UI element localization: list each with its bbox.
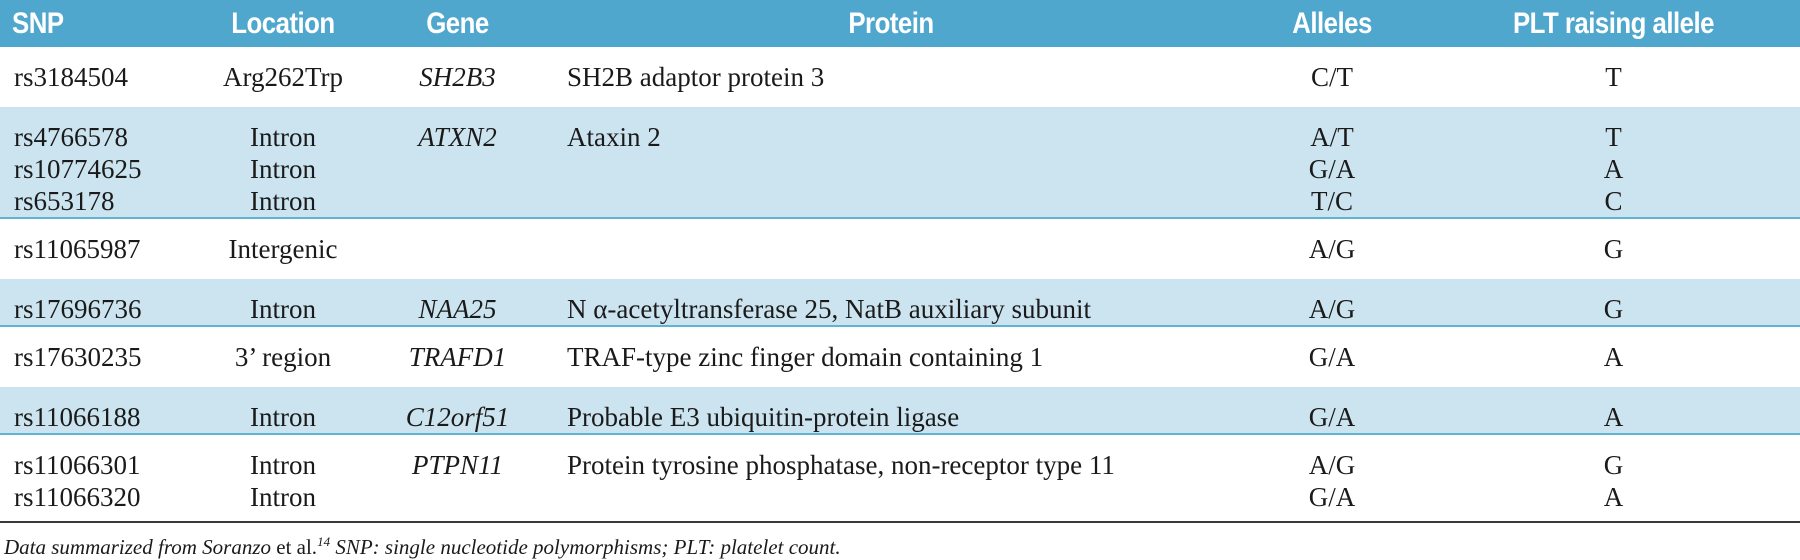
table-row: rs11066301 Intron PTPN11 Protein tyrosin… (0, 449, 1800, 481)
footnote-etal: et al. (276, 535, 317, 559)
table-body: rs3184504 Arg262Trp SH2B3 SH2B adaptor p… (0, 47, 1800, 513)
spacer-row (0, 218, 1800, 233)
table-row: rs4766578 Intron ATXN2 Ataxin 2 A/T T (0, 121, 1800, 153)
cell-plt: G (1427, 449, 1800, 481)
cell-location: Intron (196, 481, 370, 513)
cell-gene (370, 185, 545, 218)
spacer-row (0, 279, 1800, 293)
cell-snp: rs10774625 (0, 153, 196, 185)
cell-plt: T (1427, 121, 1800, 153)
cell-location: Intron (196, 121, 370, 153)
column-header-gene: Gene (382, 0, 533, 47)
cell-alleles: G/A (1237, 401, 1427, 434)
table-footnote: Data summarized from Soranzo et al.14 SN… (0, 523, 1800, 560)
table-row: rs11066320 Intron G/A A (0, 481, 1800, 513)
cell-alleles: G/A (1237, 153, 1427, 185)
table-row: rs3184504 Arg262Trp SH2B3 SH2B adaptor p… (0, 61, 1800, 93)
cell-gene: TRAFD1 (370, 341, 545, 373)
footnote-reference-number: 14 (317, 534, 330, 549)
spacer-row (0, 373, 1800, 387)
cell-snp: rs11066301 (0, 449, 196, 481)
header-row: SNP Location Gene Protein Alleles PLT ra… (0, 0, 1800, 47)
spacer-row (0, 387, 1800, 401)
cell-plt: G (1427, 293, 1800, 326)
cell-location: Intron (196, 153, 370, 185)
cell-plt: A (1427, 341, 1800, 373)
cell-gene (370, 233, 545, 265)
cell-location: Intron (196, 293, 370, 326)
cell-plt: A (1427, 401, 1800, 434)
table-row: rs17630235 3’ region TRAFD1 TRAF-type zi… (0, 341, 1800, 373)
cell-gene: NAA25 (370, 293, 545, 326)
spacer-row (0, 107, 1800, 121)
cell-location: Intron (196, 185, 370, 218)
table-row: rs653178 Intron T/C C (0, 185, 1800, 218)
cell-protein: SH2B adaptor protein 3 (545, 61, 1237, 93)
cell-snp: rs17630235 (0, 341, 196, 373)
cell-alleles: A/T (1237, 121, 1427, 153)
cell-snp: rs3184504 (0, 61, 196, 93)
column-header-location: Location (208, 0, 358, 47)
cell-alleles: A/G (1237, 233, 1427, 265)
cell-plt: A (1427, 153, 1800, 185)
cell-gene: ATXN2 (370, 121, 545, 153)
cell-protein (545, 233, 1237, 265)
cell-alleles: A/G (1237, 293, 1427, 326)
column-header-snp: SNP (0, 0, 169, 47)
cell-snp: rs17696736 (0, 293, 196, 326)
cell-snp: rs4766578 (0, 121, 196, 153)
cell-location: Intron (196, 401, 370, 434)
cell-snp: rs11066188 (0, 401, 196, 434)
table-header: SNP Location Gene Protein Alleles PLT ra… (0, 0, 1800, 47)
cell-protein: Ataxin 2 (545, 121, 1237, 153)
cell-protein (545, 481, 1237, 513)
cell-plt: C (1427, 185, 1800, 218)
snp-table: SNP Location Gene Protein Alleles PLT ra… (0, 0, 1800, 513)
cell-gene: C12orf51 (370, 401, 545, 434)
spacer-row (0, 326, 1800, 341)
cell-plt: A (1427, 481, 1800, 513)
spacer-row (0, 434, 1800, 449)
cell-alleles: A/G (1237, 449, 1427, 481)
table-row: rs11066188 Intron C12orf51 Probable E3 u… (0, 401, 1800, 434)
table-row: rs17696736 Intron NAA25 N α-acetyltransf… (0, 293, 1800, 326)
cell-protein: TRAF-type zinc finger domain containing … (545, 341, 1237, 373)
cell-alleles: G/A (1237, 481, 1427, 513)
cell-plt: T (1427, 61, 1800, 93)
spacer-row (0, 93, 1800, 107)
cell-protein: N α-acetyltransferase 25, NatB auxiliary… (545, 293, 1237, 326)
cell-gene: PTPN11 (370, 449, 545, 481)
cell-snp: rs11065987 (0, 233, 196, 265)
cell-location: 3’ region (196, 341, 370, 373)
footnote-tail: SNP: single nucleotide polymorphisms; PL… (330, 535, 841, 559)
cell-protein: Protein tyrosine phosphatase, non-recept… (545, 449, 1237, 481)
table-row: rs10774625 Intron G/A A (0, 153, 1800, 185)
column-header-protein: Protein (593, 0, 1188, 47)
cell-snp: rs11066320 (0, 481, 196, 513)
cell-protein: Probable E3 ubiquitin-protein ligase (545, 401, 1237, 434)
snp-table-figure: SNP Location Gene Protein Alleles PLT ra… (0, 0, 1800, 560)
footnote-lead: Data summarized from Soranzo (4, 535, 276, 559)
spacer-row (0, 47, 1800, 61)
cell-snp: rs653178 (0, 185, 196, 218)
column-header-alleles: Alleles (1250, 0, 1413, 47)
cell-alleles: G/A (1237, 341, 1427, 373)
cell-alleles: T/C (1237, 185, 1427, 218)
cell-gene (370, 153, 545, 185)
cell-protein (545, 185, 1237, 218)
cell-alleles: C/T (1237, 61, 1427, 93)
table-row: rs11065987 Intergenic A/G G (0, 233, 1800, 265)
cell-location: Intron (196, 449, 370, 481)
spacer-row (0, 265, 1800, 279)
cell-gene: SH2B3 (370, 61, 545, 93)
cell-location: Arg262Trp (196, 61, 370, 93)
cell-gene (370, 481, 545, 513)
cell-protein (545, 153, 1237, 185)
cell-location: Intergenic (196, 233, 370, 265)
column-header-plt-raising-allele: PLT raising allele (1453, 0, 1774, 47)
cell-plt: G (1427, 233, 1800, 265)
